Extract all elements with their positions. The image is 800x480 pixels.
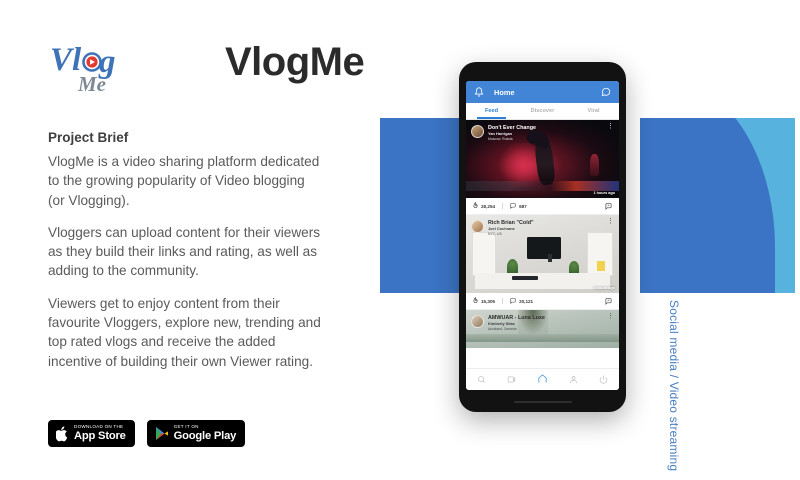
flame-icon <box>473 202 478 210</box>
power-icon[interactable] <box>599 371 608 389</box>
app-bar: Home <box>466 81 619 103</box>
chat-icon[interactable] <box>601 87 611 97</box>
stats-divider <box>502 298 503 304</box>
post-1-header: Don't Ever Change Yan Harrigan Moscow, R… <box>471 125 614 142</box>
person-icon[interactable] <box>569 371 578 389</box>
app-bar-left: Home <box>474 87 515 97</box>
brief-heading: Project Brief <box>48 130 128 145</box>
comment-icon <box>510 298 516 305</box>
post-2-likes[interactable]: 15,305 <box>473 297 495 305</box>
svg-text:Me: Me <box>77 72 106 96</box>
feed-post-1[interactable]: Don't Ever Change Yan Harrigan Moscow, R… <box>466 120 619 215</box>
phone-mockup: Home Feed Discover Viral <box>459 62 626 412</box>
store-badges: Download on the App Store Get it on Goog… <box>48 420 245 447</box>
home-icon[interactable] <box>537 371 548 389</box>
post-3-horizon <box>466 334 619 342</box>
page-title: VlogMe <box>225 42 364 82</box>
post-1-likes[interactable]: 28,254 <box>473 202 495 210</box>
more-vertical-icon[interactable]: ⋮ <box>604 125 614 130</box>
post-3-thumbnail[interactable]: AMWUAR - Luna Luxe Kimberly Silas Auckla… <box>466 310 619 348</box>
brief-paragraph-3: Viewers get to enjoy content from their … <box>48 294 323 371</box>
post-2-comments-count: 20,121 <box>519 299 533 304</box>
vertical-caption: Social media / Video streaming <box>667 300 681 471</box>
bottom-nav <box>466 368 619 390</box>
app-store-badge-big: App Store <box>74 431 126 442</box>
post-3-header: AMWUAR - Luna Luxe Kimberly Silas Auckla… <box>471 315 614 332</box>
post-1-likes-count: 28,254 <box>481 204 495 209</box>
tab-bar: Feed Discover Viral <box>466 103 619 120</box>
reply-icon[interactable] <box>605 292 612 310</box>
bell-icon[interactable] <box>474 87 484 97</box>
more-vertical-icon[interactable]: ⋮ <box>604 220 614 225</box>
brief-paragraph-1: VlogMe is a video sharing platform dedic… <box>48 152 323 210</box>
post-2-location: NYC, US <box>488 232 604 237</box>
post-1-comments-count: 687 <box>519 204 527 209</box>
google-play-badge[interactable]: Get it on Google Play <box>147 420 245 447</box>
post-2-monitor <box>527 237 561 259</box>
background-rect-right <box>640 118 795 293</box>
post-1-stage-lights <box>466 181 619 191</box>
post-2-monitor-stand <box>548 254 552 262</box>
post-2-yellow-object <box>597 261 605 271</box>
video-icon[interactable] <box>507 371 516 389</box>
post-2-comments[interactable]: 20,121 <box>510 298 533 305</box>
vlogme-logo-icon: Vl g Me <box>48 38 140 100</box>
post-2-desk <box>475 273 610 289</box>
app-store-badge-text: Download on the App Store <box>74 425 126 442</box>
brief-body: VlogMe is a video sharing platform dedic… <box>48 152 323 371</box>
app-store-badge[interactable]: Download on the App Store <box>48 420 135 447</box>
post-2-meta: Rich Brian "Cold" Joel Cochrane NYC, US <box>488 220 604 237</box>
app-store-badge-small: Download on the <box>74 425 126 430</box>
comment-icon <box>510 203 516 210</box>
feed-post-3[interactable]: AMWUAR - Luna Luxe Kimberly Silas Auckla… <box>466 310 619 348</box>
google-play-badge-big: Google Play <box>174 431 236 442</box>
post-1-comments[interactable]: 687 <box>510 203 527 210</box>
tab-viral[interactable]: Viral <box>568 103 619 119</box>
avatar[interactable] <box>471 220 484 233</box>
app-bar-title: Home <box>494 88 515 97</box>
post-3-location: Auckland, Oceania <box>488 327 604 332</box>
presentation-slide: Vl g Me VlogMe Project Brief VlogMe is a… <box>0 0 800 480</box>
google-play-badge-text: Get it on Google Play <box>174 425 236 442</box>
post-1-thumbnail[interactable]: Don't Ever Change Yan Harrigan Moscow, R… <box>466 120 619 198</box>
reply-icon[interactable] <box>605 197 612 215</box>
post-2-likes-count: 15,305 <box>481 299 495 304</box>
post-2-stats: 15,305 20,121 <box>466 293 619 310</box>
post-1-meta: Don't Ever Change Yan Harrigan Moscow, R… <box>488 125 604 142</box>
avatar[interactable] <box>471 125 484 138</box>
hero-artwork: Home Feed Discover Viral <box>375 0 800 480</box>
post-1-stats: 28,254 687 <box>466 198 619 215</box>
feed-list[interactable]: Don't Ever Change Yan Harrigan Moscow, R… <box>466 120 619 368</box>
post-2-header: Rich Brian "Cold" Joel Cochrane NYC, US … <box>471 220 614 237</box>
google-play-badge-small: Get it on <box>174 425 236 430</box>
brief-paragraph-2: Vloggers can upload content for their vi… <box>48 223 323 281</box>
post-1-timestamp: 1 hours ago <box>593 191 615 195</box>
flame-icon <box>473 297 478 305</box>
phone-screen: Home Feed Discover Viral <box>466 81 619 390</box>
post-2-shelf-left <box>472 232 496 276</box>
avatar[interactable] <box>471 315 484 328</box>
more-vertical-icon[interactable]: ⋮ <box>604 315 614 320</box>
vlogme-logo: Vl g Me <box>48 38 140 100</box>
stats-divider <box>502 203 503 209</box>
post-3-meta: AMWUAR - Luna Luxe Kimberly Silas Auckla… <box>488 315 604 332</box>
post-2-keyboard <box>512 276 538 280</box>
google-play-icon <box>155 426 169 441</box>
post-1-location: Moscow, Russia <box>488 137 604 142</box>
post-2-timestamp: 3 hours ago <box>593 286 615 290</box>
tab-feed[interactable]: Feed <box>466 103 517 119</box>
post-1-background-figure <box>590 154 599 176</box>
search-icon[interactable] <box>477 371 486 389</box>
post-2-thumbnail[interactable]: Rich Brian "Cold" Joel Cochrane NYC, US … <box>466 215 619 293</box>
apple-icon <box>56 426 69 442</box>
tab-discover[interactable]: Discover <box>517 103 568 119</box>
feed-post-2[interactable]: Rich Brian "Cold" Joel Cochrane NYC, US … <box>466 215 619 310</box>
